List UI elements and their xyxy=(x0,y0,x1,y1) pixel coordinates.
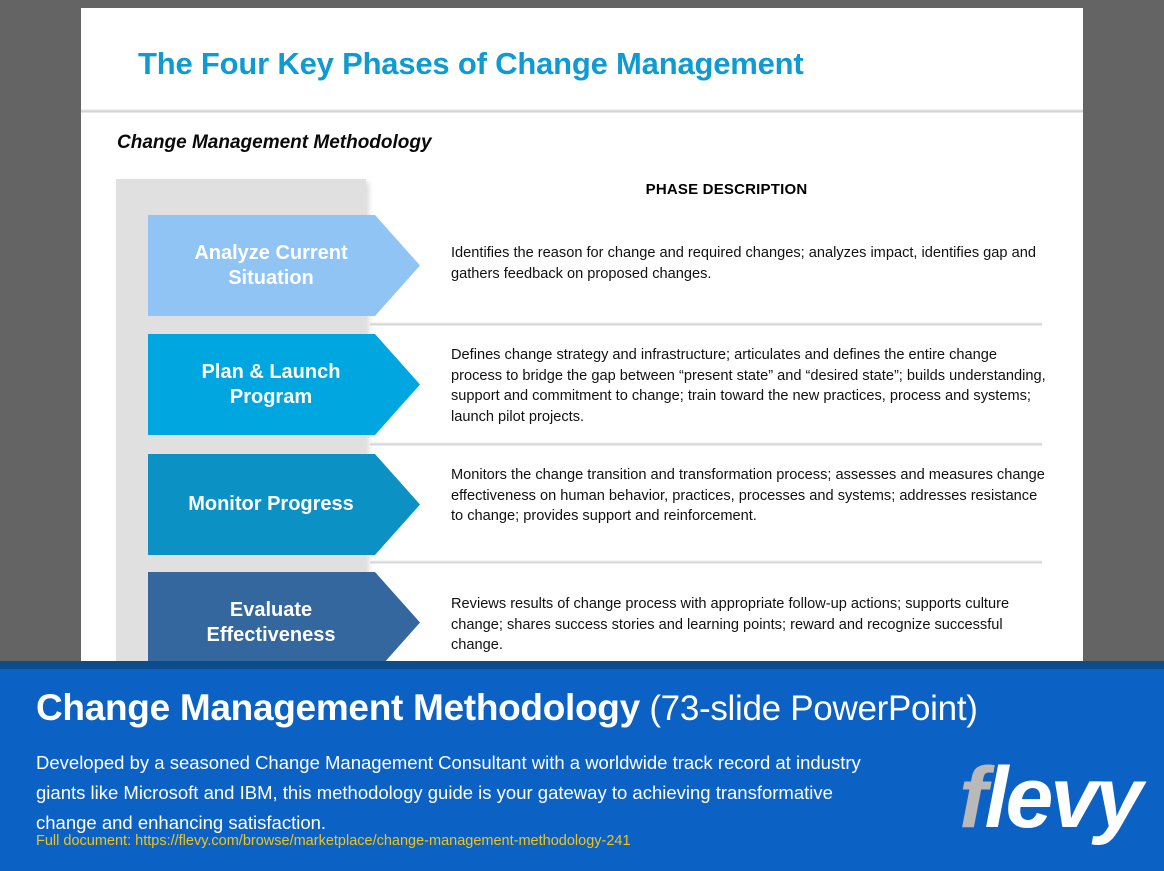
banner-title-main: Change Management Methodology xyxy=(36,687,640,728)
phase-label: Evaluate Effectiveness xyxy=(207,598,362,648)
row-separator xyxy=(370,560,1042,564)
row-separator xyxy=(370,322,1042,326)
phase-description: Monitors the change transition and trans… xyxy=(451,465,1051,527)
flevy-logo-f: f xyxy=(959,750,985,846)
phase-chevron-analyze-current-situation[interactable]: Analyze Current Situation xyxy=(148,215,420,316)
phase-description: Reviews results of change process with a… xyxy=(451,594,1051,656)
flevy-logo-levy: levy xyxy=(985,750,1140,846)
phase-label: Plan & Launch Program xyxy=(202,360,367,410)
presentation-slide: The Four Key Phases of Change Management… xyxy=(81,8,1083,661)
full-document-link[interactable]: Full document: https://flevy.com/browse/… xyxy=(36,833,631,849)
phase-chevron-monitor-progress[interactable]: Monitor Progress xyxy=(148,454,420,555)
banner-top-strip xyxy=(0,661,1164,669)
phase-chevron-plan-and-launch-program[interactable]: Plan & Launch Program xyxy=(148,334,420,435)
phase-label: Monitor Progress xyxy=(188,492,380,517)
slide-subtitle: Change Management Methodology xyxy=(117,132,432,154)
banner-title-sub: (73-slide PowerPoint) xyxy=(640,689,978,728)
phase-label: Analyze Current Situation xyxy=(194,241,373,291)
flevy-logo: flevy xyxy=(959,755,1140,841)
banner-title: Change Management Methodology (73-slide … xyxy=(36,687,978,729)
header-divider xyxy=(81,109,1083,113)
phase-description: Identifies the reason for change and req… xyxy=(451,243,1051,284)
page-title: The Four Key Phases of Change Management xyxy=(138,46,804,82)
phase-description-column-header: PHASE DESCRIPTION xyxy=(370,181,1083,198)
banner-description: Developed by a seasoned Change Managemen… xyxy=(36,748,866,838)
row-separator xyxy=(370,442,1042,446)
phase-description: Defines change strategy and infrastructu… xyxy=(451,345,1051,428)
phase-chevron-evaluate-effectiveness[interactable]: Evaluate Effectiveness xyxy=(148,572,420,661)
